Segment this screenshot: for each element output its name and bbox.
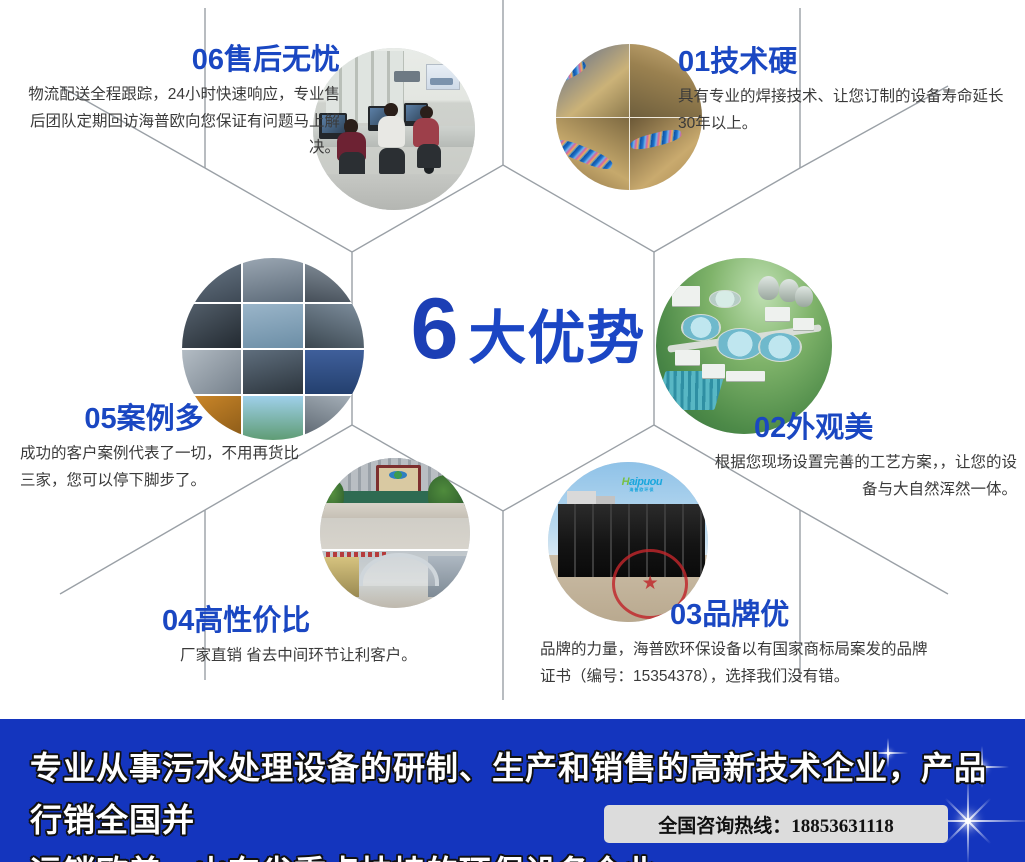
weld-bead: [630, 127, 683, 152]
advantage-block-03: 03品牌优 品牌的力量，海普欧环保设备以有国家商标局案发的品牌证书（编号：153…: [540, 600, 940, 690]
collage-cell: [305, 304, 364, 348]
outer-edge-far-right-bottom: [800, 510, 948, 594]
factory-yard: [320, 503, 470, 518]
aerial-building: [675, 350, 700, 366]
weld-bead: [556, 136, 614, 172]
collage-cell: [243, 258, 302, 302]
center-title: 6 大优势: [388, 286, 668, 396]
stamp-star-icon: ★: [642, 574, 659, 593]
advantage-block-05: 05案例多 成功的客户案例代表了一切，不用再货比三家，您可以停下脚步了。: [20, 404, 310, 494]
collage-cell: [305, 396, 364, 440]
advantage-desc-01: 具有专业的焊接技术、让您订制的设备寿命延长30年以上。: [678, 84, 1008, 137]
aerial-building: [726, 371, 765, 382]
factory-upper-photo: [320, 458, 470, 551]
logo-initial: H: [622, 476, 629, 488]
collage-cell: [243, 350, 302, 394]
aerial-building: [793, 318, 814, 330]
center-number: 6: [411, 286, 457, 372]
advantage-desc-03: 品牌的力量，海普欧环保设备以有国家商标局案发的品牌证书（编号：15354378）…: [540, 637, 940, 690]
advantage-block-01: 01技术硬 具有专业的焊接技术、让您订制的设备寿命延长30年以上。: [678, 47, 1008, 137]
aerial-building: [702, 364, 725, 378]
aerial-clarifier: [716, 328, 764, 360]
banner-slogan-line2: 远销欧美，山东省重点扶持的环保设备企业。: [30, 847, 990, 862]
advantage-block-04: 04高性价比 厂家直销 省去中间环节让利客户。: [140, 606, 440, 670]
aerial-tank-pool: [709, 290, 741, 308]
aerial-digester-tank: [795, 286, 813, 307]
banner-slogan: 专业从事污水处理设备的研制、生产和销售的高新技术企业，产品行销全国并 远销欧美，…: [30, 743, 990, 862]
office-chair: [417, 144, 441, 168]
office-floor: [313, 174, 475, 210]
advantage-desc-05: 成功的客户案例代表了一切，不用再货比三家，您可以停下脚步了。: [20, 441, 310, 494]
office-chair: [339, 152, 365, 176]
advantage-heading-03: 03品牌优: [540, 600, 940, 632]
advantage-desc-04: 厂家直销 省去中间环节让利客户。: [140, 643, 440, 670]
haipuou-logo: Haipuou 海普欧环保: [622, 476, 663, 493]
collage-cell: [182, 350, 241, 394]
office-air-conditioner: [394, 71, 420, 82]
factory-gatehouse-left: [320, 557, 359, 597]
outer-edge-far-left-bottom: [60, 510, 205, 594]
aerial-digester-tank: [758, 276, 779, 301]
advantage-desc-06: 物流配送全程跟踪，24小时快速响应，专业售后团队定期回访海普欧向您保证有问题马上…: [20, 82, 340, 162]
hotline-box[interactable]: 全国咨询热线：18853631118: [604, 805, 948, 843]
weld-bead: [556, 58, 587, 85]
collage-cell: [305, 350, 364, 394]
photo-equipment-trademark: Haipuou 海普欧环保 ★: [548, 462, 708, 622]
advantage-heading-02: 02外观美: [712, 413, 1017, 445]
factory-lower-photo: [320, 549, 470, 608]
hotline-text: 全国咨询热线：18853631118: [658, 811, 893, 838]
advantage-heading-05: 05案例多: [20, 404, 310, 436]
aerial-building: [765, 307, 790, 321]
factory-entrance-arch: [359, 553, 439, 586]
infographic-page: 6 大优势: [0, 0, 1025, 862]
photo-treatment-plant-aerial: [656, 258, 832, 434]
collage-cell: [243, 304, 302, 348]
advantage-block-06: 06售后无忧 物流配送全程跟踪，24小时快速响应，专业售后团队定期回访海普欧向您…: [20, 45, 340, 162]
advantage-heading-01: 01技术硬: [678, 47, 1008, 79]
advantage-block-02: 02外观美 根据您现场设置完善的工艺方案，，让您的设备与大自然浑然一体。: [712, 413, 1017, 503]
aerial-clarifier: [681, 314, 722, 341]
office-poster: [426, 64, 460, 90]
office-person-body: [378, 116, 406, 147]
office-person-head: [384, 103, 398, 117]
advantage-heading-06: 06售后无忧: [20, 45, 340, 77]
office-chair: [379, 148, 405, 174]
collage-cell: [305, 258, 364, 302]
advantage-desc-02: 根据您现场设置完善的工艺方案，，让您的设备与大自然浑然一体。: [712, 450, 1017, 503]
collage-cell: [182, 304, 241, 348]
collage-cell: [182, 258, 241, 302]
photo-factory-gate: [320, 458, 470, 608]
welding-quadrant: [556, 118, 629, 191]
center-word: 大优势: [468, 310, 645, 368]
aerial-building: [672, 286, 700, 305]
welding-quadrant: [556, 44, 629, 117]
advantage-heading-04: 04高性价比: [140, 606, 440, 638]
office-person-body: [413, 118, 439, 147]
